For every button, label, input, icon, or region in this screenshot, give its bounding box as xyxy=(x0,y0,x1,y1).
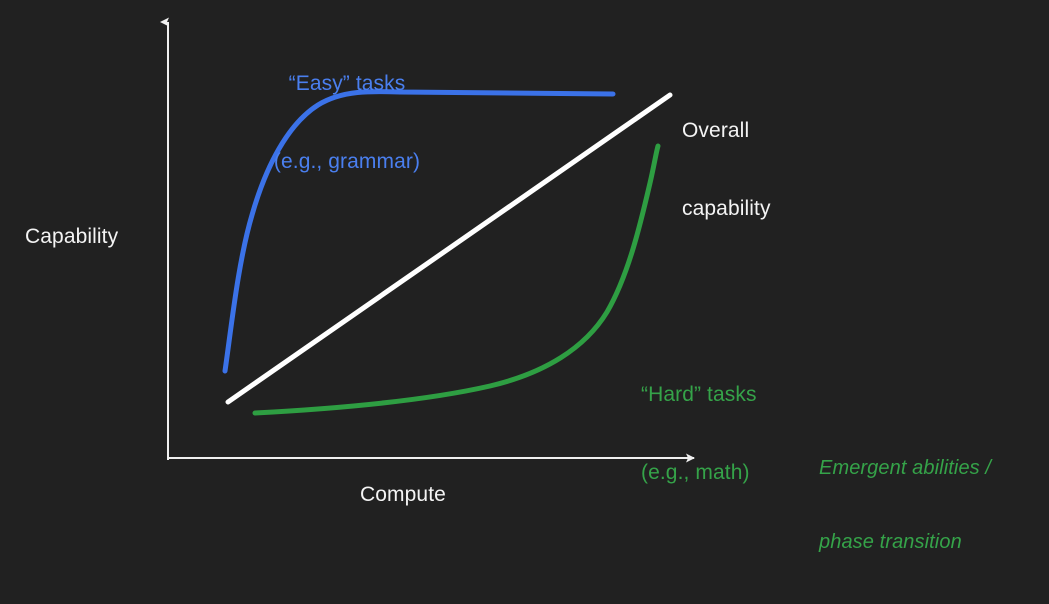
annotation-emergent-abilities: Emergent abilities / phase transition xyxy=(819,406,991,604)
y-axis-label: Capability xyxy=(25,224,118,250)
annotation-hard-tasks-line2: (e.g., math) xyxy=(641,460,757,486)
annotation-easy-tasks: “Easy” tasks (e.g., grammar) xyxy=(252,19,442,227)
annotation-emergent-abilities-line1: Emergent abilities / xyxy=(819,456,991,481)
annotation-hard-tasks: “Hard” tasks (e.g., math) xyxy=(641,330,757,538)
annotation-easy-tasks-line2: (e.g., grammar) xyxy=(252,149,442,175)
annotation-overall-capability-line1: Overall xyxy=(682,118,771,144)
annotation-easy-tasks-line1: “Easy” tasks xyxy=(252,71,442,97)
annotation-hard-tasks-line1: “Hard” tasks xyxy=(641,382,757,408)
annotation-overall-capability-line2: capability xyxy=(682,196,771,222)
annotation-overall-capability: Overall capability xyxy=(682,66,771,274)
chart-canvas: Capability Compute “Easy” tasks (e.g., g… xyxy=(0,0,1049,529)
annotation-emergent-abilities-line2: phase transition xyxy=(819,530,991,555)
x-axis-label: Compute xyxy=(360,482,446,508)
